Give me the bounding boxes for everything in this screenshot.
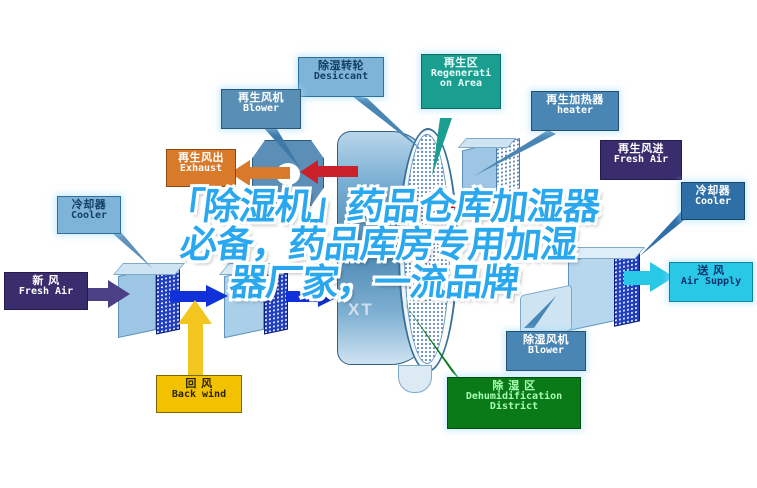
label-regeneration-exhaust[interactable]: 再生风出 Exhaust (166, 149, 236, 187)
label-exhaust-en: Exhaust (171, 164, 231, 175)
label-regeneration-area-en2: on Area (426, 79, 496, 90)
back-wind-arrow (178, 300, 212, 374)
label-back-wind-en: Back wind (161, 390, 237, 401)
label-regeneration-heater-en: heater (536, 106, 614, 117)
label-dehum-blower-cn: 除湿风机 (511, 334, 581, 346)
label-regeneration-blower-cn: 再生风机 (226, 92, 296, 104)
label-cooler-right-en: Cooler (686, 197, 740, 208)
label-dehumidification-district[interactable]: 除 湿 区 Dehumidification District (447, 377, 581, 429)
supply-section-top-face (563, 247, 645, 259)
label-air-supply[interactable]: 送 风 Air Supply (669, 262, 753, 302)
rotor-watermark: XT (348, 300, 374, 320)
label-cooler-left-en: Cooler (62, 211, 116, 222)
diagram-canvas: XT (0, 0, 757, 488)
label-regen-fresh-air-en: Fresh Air (605, 155, 677, 166)
label-regeneration-blower-en: Blower (226, 104, 296, 115)
label-regeneration-heater-cn: 再生加热器 (536, 94, 614, 106)
process-air-arrow-2 (286, 285, 342, 307)
process-cooler-top-face (219, 263, 293, 275)
label-desiccant-rotor-cn: 除湿转轮 (303, 60, 379, 72)
label-cooler-right-cn: 冷却器 (686, 185, 740, 197)
air-supply-arrow (624, 262, 674, 292)
process-cooler-block (224, 268, 264, 339)
supply-section-block (568, 251, 616, 331)
label-exhaust-cn: 再生风出 (171, 152, 231, 164)
label-fresh-air-en: Fresh Air (9, 287, 83, 298)
label-fresh-air-cn: 新 风 (9, 275, 83, 287)
label-desiccant-rotor-en: Desiccant (303, 72, 379, 83)
label-dehum-district-cn: 除 湿 区 (452, 380, 576, 392)
rotor-bottom-bracket (398, 365, 432, 393)
exhaust-arrow (230, 160, 288, 186)
regeneration-inlet-arrow (432, 196, 472, 212)
label-dehum-blower-en: Blower (511, 346, 581, 357)
label-regeneration-fresh-air-in[interactable]: 再生风进 Fresh Air (600, 140, 682, 180)
label-regeneration-area-cn: 再生区 (426, 57, 496, 69)
label-cooler-right[interactable]: 冷却器 Cooler (681, 182, 745, 220)
process-cooler-coil (264, 265, 288, 334)
label-desiccant-rotor[interactable]: 除湿转轮 Desiccant (298, 57, 384, 97)
label-regeneration-heater[interactable]: 再生加热器 heater (531, 91, 619, 131)
label-cooler-left[interactable]: 冷却器 Cooler (57, 196, 121, 234)
label-regeneration-blower[interactable]: 再生风机 Blower (221, 89, 301, 129)
label-air-supply-en: Air Supply (674, 277, 748, 288)
regeneration-heater-top-face (458, 138, 516, 148)
desiccant-rotor-media (404, 134, 450, 364)
label-air-supply-cn: 送 风 (674, 265, 748, 277)
label-regeneration-area[interactable]: 再生区 Regenerati on Area (421, 54, 501, 109)
label-regen-fresh-air-cn: 再生风进 (605, 143, 677, 155)
label-dehumidification-blower[interactable]: 除湿风机 Blower (506, 331, 586, 371)
label-back-wind[interactable]: 回 风 Back wind (156, 375, 242, 413)
label-fresh-air-in[interactable]: 新 风 Fresh Air (4, 272, 88, 310)
label-cooler-left-cn: 冷却器 (62, 199, 116, 211)
label-back-wind-cn: 回 风 (161, 378, 237, 390)
regeneration-red-arrow (300, 160, 356, 184)
left-cooler-top-face (113, 263, 185, 275)
label-dehum-district-en2: District (452, 402, 576, 413)
